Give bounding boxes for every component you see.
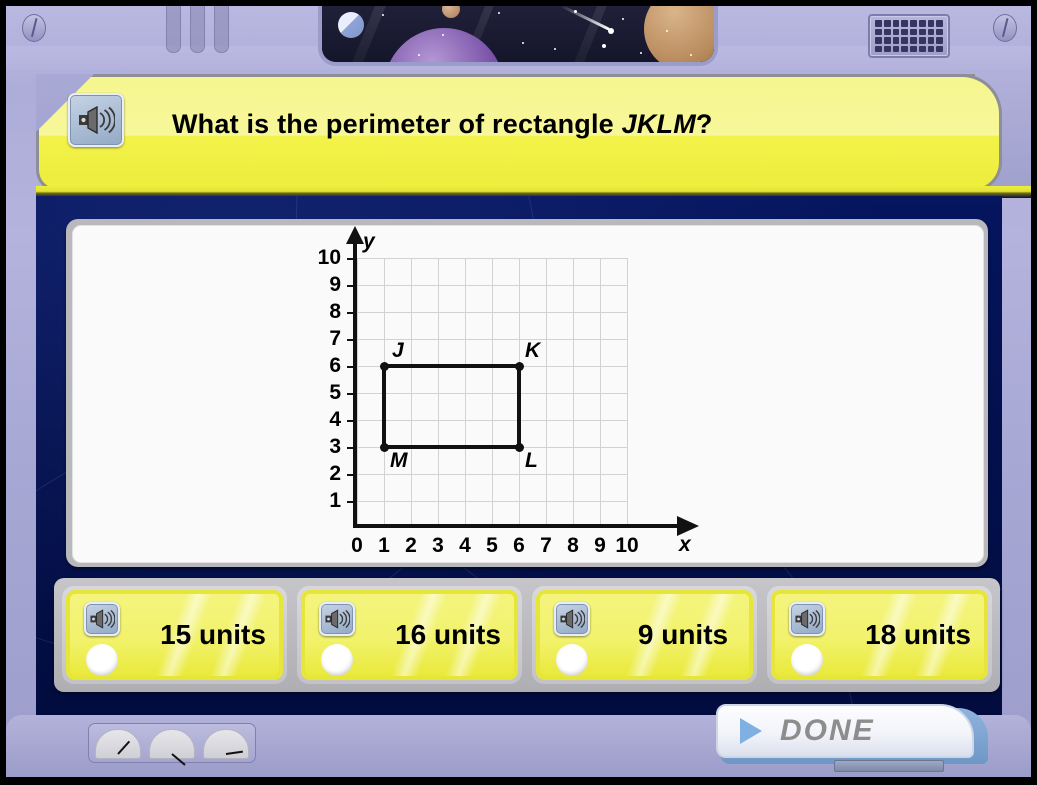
play-arrow-icon [740,718,762,744]
vent-slot-3 [214,0,229,53]
star [418,54,420,56]
y-tick-label: 9 [295,273,341,297]
star [602,44,606,48]
gauge-3 [203,729,249,759]
y-tick [347,339,357,341]
y-tick [347,420,357,422]
vertex-label-m: M [390,449,408,473]
star [666,30,668,32]
answer-option-2-face: 16 units [301,590,518,680]
y-tick-label: 5 [295,381,341,405]
star [382,14,384,16]
speaker-icon [554,602,590,636]
y-tick [347,501,357,503]
planet-blue [338,12,364,38]
answer-radio-2[interactable] [321,644,353,676]
vertex-label-k: K [525,339,540,363]
x-tick-label: 9 [586,534,614,558]
answer-option-4-face: 18 units [771,590,988,680]
gridline-h [357,501,627,502]
gridline-h [357,258,627,259]
done-button-group: DONE [716,704,988,766]
y-tick-label: 3 [295,435,341,459]
answer-option-2[interactable]: 16 units [297,586,522,684]
answer-option-3[interactable]: 9 units [532,586,757,684]
answer-label-1: 15 units [134,594,283,676]
speaker-glyph [324,610,350,629]
star [554,48,556,50]
gauge-1-needle [117,741,130,755]
gridline-h [357,393,627,394]
question-speaker-button[interactable] [68,93,124,147]
speaker-icon [319,602,355,636]
y-tick-label: 4 [295,408,341,432]
speaker-icon [789,602,825,636]
speaker-icon [84,602,120,636]
gauge-1 [95,729,141,759]
y-tick [347,474,357,476]
gridline-h [357,474,627,475]
space-window [318,4,718,66]
vertex-point-k [515,362,524,371]
gridline-h [357,420,627,421]
x-tick-label: 2 [397,534,425,558]
question-figure-name: JKLM [622,109,696,139]
speaker-icon [68,93,124,147]
x-tick-label: 1 [370,534,398,558]
answer-radio-3[interactable] [556,644,588,676]
y-tick [347,366,357,368]
answer-label-2: 16 units [369,594,518,676]
frame-edge-bottom [0,777,1037,785]
question-prefix: What is the perimeter of rectangle [172,109,622,139]
star [640,52,642,54]
y-tick-label: 1 [295,489,341,513]
y-tick-label: 7 [295,327,341,351]
star [622,18,624,20]
screw-icon [22,14,46,42]
answer-option-1[interactable]: 15 units [62,586,287,684]
grille-grid [875,20,943,52]
x-tick-label: 6 [505,534,533,558]
vertex-point-l [515,443,524,452]
answer-options-row: 15 units [62,586,992,684]
rect-edge-mj [382,366,386,449]
question-text: What is the perimeter of rectangle JKLM? [172,100,962,148]
x-tick-label: 8 [559,534,587,558]
speaker-grille [868,14,950,58]
star [442,34,444,36]
coordinate-graph: 1 2 3 4 5 6 7 8 9 10 0 1 2 3 4 5 6 7 8 9… [289,228,719,558]
x-axis [353,524,683,528]
x-axis-label: x [679,533,691,557]
gridline-v [627,258,628,528]
gauge-panel [88,723,256,763]
y-tick [347,312,357,314]
vertex-point-j [380,362,389,371]
vent-slots [166,0,228,56]
answer-option-3-face: 9 units [536,590,753,680]
y-tick [347,258,357,260]
planet-large-tan [644,4,718,66]
gauge-3-needle [226,751,243,755]
answer-label-3: 9 units [604,594,753,676]
answer-label-4: 18 units [839,594,988,676]
frame-edge-top [0,0,1037,6]
vent-slot-2 [190,0,205,53]
y-axis-label: y [363,230,375,254]
speaker-glyph [559,610,585,629]
x-tick-label: 0 [343,534,371,558]
x-tick-label: 3 [424,534,452,558]
x-tick-label: 7 [532,534,560,558]
star [498,12,500,14]
vertex-label-l: L [525,449,538,473]
answer-option-4[interactable]: 18 units [767,586,992,684]
gauge-2 [149,729,195,759]
x-tick-label: 4 [451,534,479,558]
question-suffix: ? [696,109,713,139]
y-tick [347,393,357,395]
speaker-glyph [794,610,820,629]
quiz-application: What is the perimeter of rectangle JKLM? [0,0,1037,785]
done-button-tab [834,760,944,772]
frame-edge-left [0,0,6,785]
y-tick-label: 6 [295,354,341,378]
y-tick [347,285,357,287]
vertex-label-j: J [392,339,404,363]
frame-edge-right [1031,0,1037,785]
answer-speaker-button-1[interactable] [84,602,120,636]
answer-radio-4[interactable] [791,644,823,676]
speaker-glyph [89,610,115,629]
star [690,54,692,56]
vent-slot-1 [166,0,181,53]
star [522,42,524,44]
x-tick-label: 10 [611,534,643,558]
y-tick [347,447,357,449]
y-tick-label: 2 [295,462,341,486]
answer-speaker-button-3[interactable] [554,602,590,636]
done-button[interactable]: DONE [716,704,974,758]
comet-head [608,28,614,34]
gridline-h [357,285,627,286]
rect-edge-jk [384,364,521,368]
speaker-glyph [77,106,115,134]
x-tick-label: 5 [478,534,506,558]
gridline-h [357,312,627,313]
answer-radio-1[interactable] [86,644,118,676]
done-button-label: DONE [780,714,875,748]
screw-icon [993,14,1017,42]
y-tick-label: 8 [295,300,341,324]
vertex-point-m [380,443,389,452]
rect-edge-kl [517,366,521,449]
answer-speaker-button-4[interactable] [789,602,825,636]
y-tick-label: 10 [295,246,341,270]
answer-option-1-face: 15 units [66,590,283,680]
answer-speaker-button-2[interactable] [319,602,355,636]
star [574,10,577,13]
